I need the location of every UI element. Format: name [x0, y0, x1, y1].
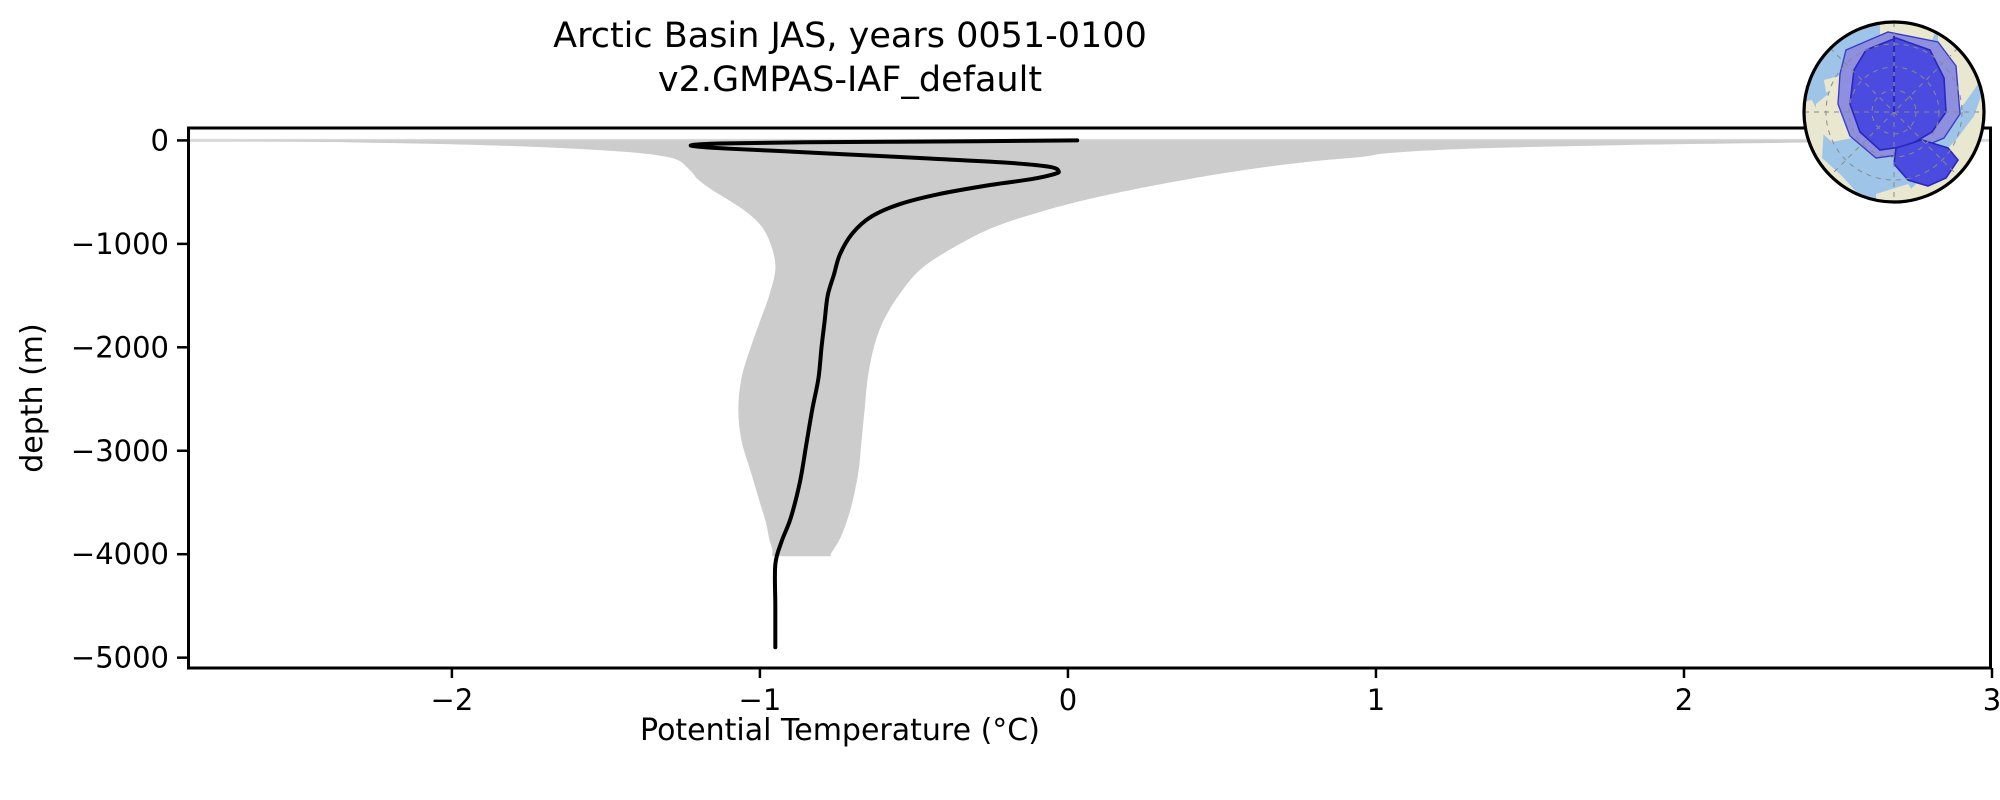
y-axis-tick-labels: 0−1000−2000−3000−4000−5000 [71, 123, 169, 674]
x-axis-tick-labels: −2−10123 [431, 683, 2000, 717]
figure-canvas: Arctic Basin JAS, years 0051-0100 v2.GMP… [0, 0, 2000, 800]
x-tick-label: 1 [1367, 683, 1385, 717]
x-tick-label: 2 [1675, 683, 1693, 717]
y-tick-label: 0 [151, 123, 169, 157]
y-tick-label: −1000 [71, 227, 169, 261]
y-tick-label: −4000 [71, 537, 169, 571]
y-axis-label: depth (m) [15, 323, 50, 473]
x-tick-label: −1 [739, 683, 782, 717]
plot-background [187, 128, 1992, 668]
x-tick-label: 3 [1983, 683, 2000, 717]
y-tick-label: −2000 [71, 330, 169, 364]
x-tick-label: 0 [1059, 683, 1077, 717]
x-axis-label: Potential Temperature (°C) [640, 713, 1040, 748]
profile-plot: −2−10123 0−1000−2000−3000−4000−5000 Pote… [0, 0, 2000, 800]
y-tick-label: −3000 [71, 434, 169, 468]
y-axis-ticks [177, 140, 187, 657]
y-tick-label: −5000 [71, 641, 169, 675]
x-tick-label: −2 [431, 683, 474, 717]
arctic-region-globe [1788, 8, 2000, 220]
